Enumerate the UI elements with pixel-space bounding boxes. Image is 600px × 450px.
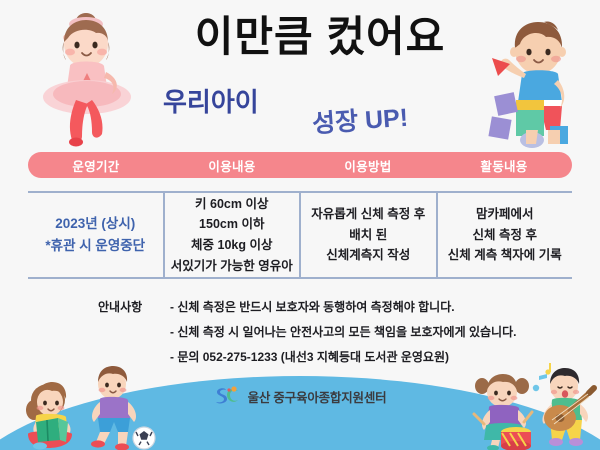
table-header-row: 운영기간 이용내용 이용방법 활동내용 [28,152,572,178]
table-header-cell-usage-content: 이용내용 [164,156,300,175]
cell-line: 맘카페에서 [476,204,534,225]
table-header-cell-operating-period: 운영기간 [28,156,164,175]
cell-line: 신체 계측 책자에 기록 [448,245,562,266]
table-cell-activity-content: 맘카페에서 신체 측정 후 신체 계측 책자에 기록 [438,193,573,277]
notice-text: - 신체 측정은 반드시 보호자와 동행하여 측정해야 합니다. [170,298,455,315]
notice-item: 안내사항 - 신체 측정은 반드시 보호자와 동행하여 측정해야 합니다. [98,298,548,315]
cell-line: 체중 10kg 이상 [191,235,272,256]
table-row: 2023년 (상시) *휴관 시 운영중단 키 60cm 이상 150cm 이하… [28,193,572,277]
notice-item: - 신체 측정 시 일어나는 안전사고의 모든 책임을 보호자에게 있습니다. [98,323,548,340]
organization-name: 울산 중구육아종합지원센터 [248,387,387,406]
table-header-cell-activity-content: 활동내용 [436,156,572,175]
cell-line: *휴관 시 운영중단 [45,235,145,257]
notice-section: 안내사항 - 신체 측정은 반드시 보호자와 동행하여 측정해야 합니다. - … [98,298,548,373]
table-cell-operating-period: 2023년 (상시) *휴관 시 운영중단 [28,193,165,277]
boy-with-guitar-illustration [530,362,600,450]
organization-logo-icon [214,386,240,406]
notice-text: - 신체 측정 시 일어나는 안전사고의 모든 책임을 보호자에게 있습니다. [170,323,516,340]
table-header-cell-usage-method: 이용방법 [300,156,436,175]
cell-line: 150cm 이하 [199,214,264,235]
page-title: 이만큼 컸어요 [155,16,485,58]
cell-line: 신체계측지 작성 [326,245,410,266]
table-cell-usage-content: 키 60cm 이상 150cm 이하 체중 10kg 이상 서있기가 가능한 영… [165,193,302,277]
title-subtitle-secondary: 성장 UP! [311,98,409,141]
cell-line: 2023년 (상시) [55,213,135,235]
notice-item: - 문의 052-275-1233 (내선3 지혜등대 도서관 운영요원) [98,348,548,365]
headline-area: 이만큼 컸어요 우리아이 성장 UP! [0,0,600,150]
cell-line: 신체 측정 후 [473,225,537,246]
boy-with-soccer-ball-illustration [78,366,156,450]
cell-line: 서있기가 가능한 영유아 [171,256,293,277]
poster-root: 이만큼 컸어요 우리아이 성장 UP! 운영기간 이용내용 이용방법 활동내용 … [0,0,600,450]
footer: 울산 중구육아종합지원센터 [0,386,600,406]
table-cell-usage-method: 자유롭게 신체 측정 후 배치 된 신체계측지 작성 [301,193,438,277]
title-subtitle-primary: 우리아이 [163,82,259,119]
cell-line: 배치 된 [349,225,387,246]
notice-label: 안내사항 [98,298,170,315]
table-bottom-rule [28,277,572,279]
cell-line: 키 60cm 이상 [195,194,268,215]
info-table: 운영기간 이용내용 이용방법 활동내용 2023년 (상시) *휴관 시 운영중… [28,152,572,279]
cell-line: 자유롭게 신체 측정 후 [311,204,425,225]
notice-text: - 문의 052-275-1233 (내선3 지혜등대 도서관 운영요원) [170,348,449,365]
